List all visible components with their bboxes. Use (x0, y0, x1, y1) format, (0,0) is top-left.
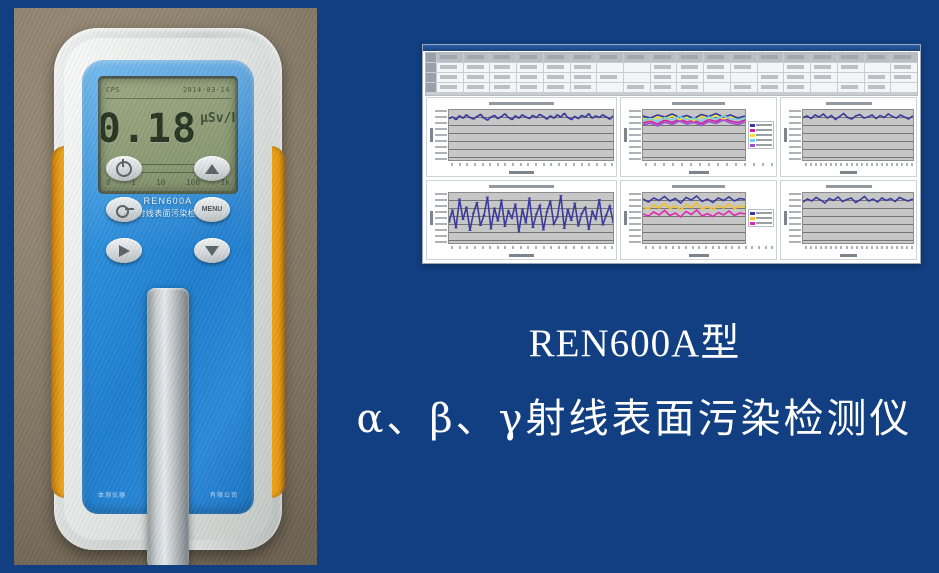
up-button[interactable] (194, 156, 230, 181)
chart-data-point (454, 227, 458, 228)
legend-label (756, 129, 772, 131)
start-button[interactable] (106, 238, 142, 263)
chart-data-point (883, 117, 885, 118)
chart-y-axis-label (782, 109, 789, 161)
chart-data-point (521, 208, 525, 209)
chart-data-point (500, 199, 504, 200)
table-cell (891, 73, 917, 82)
legend-entry (750, 221, 772, 225)
chart-top-right (780, 97, 917, 177)
chart-x-axis-label (427, 251, 616, 259)
chart-data-point (594, 218, 598, 219)
chart-data-point (824, 202, 826, 203)
chart-series-line (643, 203, 745, 210)
legend-label (756, 139, 772, 141)
legend-label (756, 212, 772, 214)
table-cell (517, 63, 543, 72)
table-cell (571, 63, 597, 72)
triangle-down-icon (205, 246, 219, 256)
table-header-cell (544, 53, 570, 62)
table-cell (731, 83, 757, 92)
chart-data-point (601, 114, 605, 115)
software-titlebar (423, 45, 920, 51)
chart-series-line (803, 197, 913, 204)
chart-body (621, 109, 776, 161)
chart-y-axis-label (622, 109, 629, 161)
chart-x-ticks (802, 244, 916, 251)
legend-swatch (750, 129, 755, 132)
chart-data-point (472, 212, 476, 213)
chart-top-left (426, 97, 617, 177)
legend-label (756, 124, 772, 126)
table-row (426, 53, 917, 62)
chart-data-point (449, 221, 451, 222)
chart-data-point (475, 202, 479, 203)
table-header-cell (464, 53, 490, 62)
key-icon (116, 205, 132, 214)
chart-x-ticks (642, 161, 776, 168)
row-header (426, 63, 436, 72)
chart-data-point (514, 203, 518, 204)
legend-entry (750, 123, 772, 127)
chart-top-center (620, 97, 777, 177)
chart-data-point (855, 202, 857, 203)
chart-data-point (517, 231, 521, 232)
chart-data-point (879, 115, 881, 116)
chart-grid (426, 97, 917, 260)
table-cell (464, 63, 490, 72)
table-cell (624, 73, 650, 82)
chart-x-axis-label (781, 168, 916, 176)
chart-data-point (535, 117, 539, 118)
table-cell (677, 83, 703, 92)
table-cell (758, 83, 784, 92)
chart-bottom-right (780, 180, 917, 260)
chart-data-point (839, 116, 841, 117)
table-cell (464, 73, 490, 82)
chart-y-ticks (789, 109, 802, 161)
table-cell (704, 83, 730, 92)
table-header-cell (704, 53, 730, 62)
table-header-cell (597, 53, 623, 62)
chart-data-point (822, 113, 824, 114)
table-cell (704, 63, 730, 72)
chart-data-point (885, 200, 887, 201)
table-cell (784, 73, 810, 82)
chart-data-point (451, 116, 455, 117)
chart-data-point (814, 114, 816, 115)
chart-y-ticks (435, 109, 448, 161)
chart-data-point (503, 113, 507, 114)
chart-data-point (818, 116, 820, 117)
chart-data-point (580, 213, 584, 214)
chart-data-point (545, 211, 549, 212)
backlight-button[interactable] (106, 197, 142, 222)
chart-x-axis-label (427, 168, 616, 176)
legend-entry (750, 128, 772, 132)
chart-data-point (850, 197, 852, 198)
footer-text-left: 本测仪器 (98, 490, 126, 502)
chart-data-point (894, 201, 896, 202)
legend-swatch (750, 134, 755, 137)
chart-data-point (468, 117, 472, 118)
chart-data-point (503, 226, 507, 227)
chart-data-point (542, 116, 546, 117)
table-header-cell (571, 53, 597, 62)
legend-entry (750, 211, 772, 215)
chart-data-point (587, 113, 591, 114)
chart-data-point (843, 113, 845, 114)
chart-data-point (594, 115, 598, 116)
legend-label (756, 217, 772, 219)
chart-data-point (535, 213, 539, 214)
lcd-status-left: CPS (106, 86, 120, 94)
chart-data-point (517, 117, 521, 118)
chart-data-point (486, 196, 490, 197)
legend-entry (750, 138, 772, 142)
table-cell (731, 73, 757, 82)
software-screenshot (422, 44, 921, 264)
chart-y-axis-label (428, 192, 435, 244)
chart-data-point (514, 115, 518, 116)
chart-y-ticks (629, 192, 642, 244)
legend-swatch (750, 212, 755, 215)
chart-data-point (827, 117, 829, 118)
legend-label (756, 144, 772, 146)
table-row (426, 73, 917, 82)
chart-data-point (810, 118, 812, 119)
chart-title (621, 181, 776, 192)
chart-data-point (465, 114, 469, 115)
chart-data-point (611, 222, 613, 223)
table-cell (544, 83, 570, 92)
chart-plot-area (642, 109, 746, 161)
power-icon (116, 161, 132, 177)
chart-data-point (542, 229, 546, 230)
legend-swatch (750, 144, 755, 147)
chart-y-axis-label (622, 192, 629, 244)
radiation-detector-device: CPS 2014-03-14 0.18 μSv/h 0 1 (54, 28, 282, 550)
chart-data-point (820, 199, 822, 200)
table-cell (784, 63, 810, 72)
chart-data-point (528, 118, 532, 119)
lcd-divider (105, 98, 231, 99)
chart-data-point (900, 114, 902, 115)
menu-button[interactable]: MENU (194, 197, 230, 222)
chart-title (621, 98, 776, 109)
chart-series-line (643, 196, 745, 203)
table-cell (704, 73, 730, 82)
chart-data-point (864, 196, 866, 197)
chart-legend (748, 209, 774, 227)
chart-data-point (608, 118, 612, 119)
chart-body (781, 192, 916, 244)
chart-data-point (486, 119, 490, 120)
lcd-unit: μSv/h (200, 111, 235, 126)
table-header-cell (758, 53, 784, 62)
chart-data-point (552, 223, 556, 224)
chart-y-ticks (435, 192, 448, 244)
chart-data-point (454, 119, 458, 120)
chart-data-point (872, 198, 874, 199)
table-header-cell (517, 53, 543, 62)
caption-block: REN600A型 α、β、γ射线表面污染检测仪 (330, 300, 939, 500)
chart-data-point (566, 209, 570, 210)
chart-plot-area (642, 192, 746, 244)
chart-data-point (531, 115, 535, 116)
chart-data-point (868, 200, 870, 201)
chart-data-point (458, 115, 462, 116)
table-cell (437, 83, 463, 92)
table-header-cell (811, 53, 837, 62)
chart-title (427, 181, 616, 192)
triangle-up-icon (205, 164, 219, 174)
chart-data-point (545, 118, 549, 119)
data-table (425, 52, 918, 96)
chart-data-point (552, 117, 556, 118)
table-row (426, 83, 917, 92)
table-cell (544, 63, 570, 72)
chart-data-point (887, 113, 889, 114)
chart-data-point (890, 198, 892, 199)
play-icon (119, 245, 130, 257)
chart-data-point (833, 200, 835, 201)
chart-data-point (472, 118, 476, 119)
chart-data-point (871, 114, 873, 115)
table-cell (891, 83, 917, 92)
chart-y-axis-label (428, 109, 435, 161)
table-cell (571, 73, 597, 82)
chart-data-point (590, 117, 594, 118)
chart-data-point (479, 114, 483, 115)
chart-bottom-left (426, 180, 617, 260)
chart-data-point (815, 197, 817, 198)
row-header (426, 83, 436, 92)
chart-plot-area (802, 109, 914, 161)
chart-data-point (807, 198, 809, 199)
chart-data-point (451, 209, 455, 210)
table-header-cell (865, 53, 891, 62)
chart-data-point (531, 227, 535, 228)
table-cell (651, 73, 677, 82)
chart-data-point (604, 116, 608, 117)
chart-data-point (597, 199, 601, 200)
chart-data-point (461, 219, 465, 220)
chart-data-point (811, 200, 813, 201)
chart-data-point (601, 224, 605, 225)
table-header-cell (838, 53, 864, 62)
chart-data-point (831, 115, 833, 116)
chart-data-point (496, 220, 500, 221)
table-header-cell (677, 53, 703, 62)
chart-data-point (806, 115, 808, 116)
chart-x-axis-label (781, 251, 916, 259)
table-cell (891, 63, 917, 72)
chart-body (781, 109, 916, 161)
chart-data-point (510, 119, 514, 120)
legend-label (756, 134, 772, 136)
chart-data-point (538, 114, 542, 115)
chart-title (781, 98, 916, 109)
table-header-cell (731, 53, 757, 62)
chart-data-point (482, 117, 486, 118)
chart-data-point (563, 113, 567, 114)
chart-data-point (608, 205, 612, 206)
chart-x-axis-label (621, 168, 776, 176)
chart-data-point (493, 207, 497, 208)
chart-x-ticks (642, 244, 776, 251)
table-cell (597, 63, 623, 72)
chart-data-point (489, 116, 493, 117)
table-cell (490, 73, 516, 82)
chart-data-point (904, 116, 906, 117)
chart-x-ticks (448, 161, 616, 168)
chart-data-point (587, 229, 591, 230)
chart-data-point (859, 114, 861, 115)
table-cell (865, 83, 891, 92)
chart-data-point (875, 118, 877, 119)
chart-data-point (507, 210, 511, 211)
chart-data-point (489, 228, 493, 229)
chart-data-point (846, 199, 848, 200)
table-header-cell (437, 53, 463, 62)
table-cell (811, 63, 837, 72)
device-handle-strip (147, 288, 189, 565)
chart-data-point (510, 217, 514, 218)
product-description-title: α、β、γ射线表面污染检测仪 (330, 386, 939, 444)
chart-data-point (899, 197, 901, 198)
chart-data-point (559, 116, 563, 117)
table-cell (731, 63, 757, 72)
chart-data-point (903, 199, 905, 200)
chart-body (621, 192, 776, 244)
legend-swatch (750, 217, 755, 220)
device-shell-inner: CPS 2014-03-14 0.18 μSv/h 0 1 (64, 38, 272, 540)
table-cell (784, 83, 810, 92)
lcd-status-row: CPS 2014-03-14 (106, 82, 230, 97)
chart-data-point (604, 214, 608, 215)
table-cell (571, 83, 597, 92)
footer-text-right: 有限公司 (210, 490, 238, 502)
product-model-title: REN600A型 (330, 312, 939, 368)
table-cell (677, 63, 703, 72)
table-cell (624, 83, 650, 92)
chart-data-point (855, 115, 857, 116)
table-cell (758, 73, 784, 82)
table-cell (651, 63, 677, 72)
lcd-reading: 0.18 μSv/h (101, 101, 235, 157)
table-header-cell (490, 53, 516, 62)
table-cell (490, 63, 516, 72)
table-cell (758, 63, 784, 72)
legend-label (756, 222, 772, 224)
chart-data-point (597, 117, 601, 118)
chart-series-line (643, 210, 745, 217)
button-panel: MENU (82, 156, 254, 286)
table-cell (464, 83, 490, 92)
chart-body (427, 109, 616, 161)
chart-data-point (524, 222, 528, 223)
chart-data-point (507, 117, 511, 118)
table-header-cell (891, 53, 917, 62)
chart-data-point (828, 198, 830, 199)
menu-button-label: MENU (202, 206, 223, 213)
chart-data-point (482, 215, 486, 216)
chart-data-point (500, 116, 504, 117)
chart-data-point (577, 225, 581, 226)
power-button[interactable] (106, 156, 142, 181)
table-cell (651, 83, 677, 92)
chart-data-point (549, 200, 553, 201)
chart-data-point (881, 197, 883, 198)
row-header (426, 53, 436, 62)
chart-y-axis-label (782, 192, 789, 244)
table-cell (811, 83, 837, 92)
chart-data-point (570, 220, 574, 221)
chart-data-point (847, 117, 849, 118)
chart-data-point (573, 116, 577, 117)
table-cell (811, 73, 837, 82)
chart-data-point (465, 206, 469, 207)
chart-title (781, 181, 916, 192)
down-button[interactable] (194, 238, 230, 263)
chart-data-point (493, 115, 497, 116)
chart-body (427, 192, 616, 244)
chart-data-point (468, 230, 472, 231)
chart-data-point (837, 196, 839, 197)
chart-data-point (842, 201, 844, 202)
chart-data-point (867, 116, 869, 117)
chart-data-point (859, 199, 861, 200)
chart-data-point (566, 117, 570, 118)
legend-entry (750, 133, 772, 137)
chart-x-axis-label (621, 251, 776, 259)
table-cell (597, 83, 623, 92)
chart-data-point (496, 118, 500, 119)
table-cell (544, 73, 570, 82)
table-header-cell (651, 53, 677, 62)
chart-plot-area (448, 109, 614, 161)
chart-data-point (475, 116, 479, 117)
chart-data-point (851, 118, 853, 119)
lcd-status-right: 2014-03-14 (183, 86, 230, 94)
table-header-cell (784, 53, 810, 62)
chart-x-ticks (802, 161, 916, 168)
chart-data-point (580, 115, 584, 116)
table-cell (517, 83, 543, 92)
table-cell (865, 73, 891, 82)
chart-data-point (877, 201, 879, 202)
table-cell (437, 63, 463, 72)
table-row (426, 63, 917, 72)
chart-data-point (461, 117, 465, 118)
chart-data-point (556, 114, 560, 115)
table-header-cell (624, 53, 650, 62)
row-header (426, 73, 436, 82)
chart-x-ticks (448, 244, 616, 251)
chart-plot-area (802, 192, 914, 244)
chart-data-point (570, 119, 574, 120)
table-cell (437, 73, 463, 82)
lcd-value: 0.18 (101, 109, 197, 149)
slide-root: CPS 2014-03-14 0.18 μSv/h 0 1 (0, 0, 939, 573)
table-cell (838, 73, 864, 82)
chart-data-point (835, 119, 837, 120)
chart-data-point (584, 116, 588, 117)
chart-plot-area (448, 192, 614, 244)
chart-data-point (521, 114, 525, 115)
chart-data-point (479, 225, 483, 226)
